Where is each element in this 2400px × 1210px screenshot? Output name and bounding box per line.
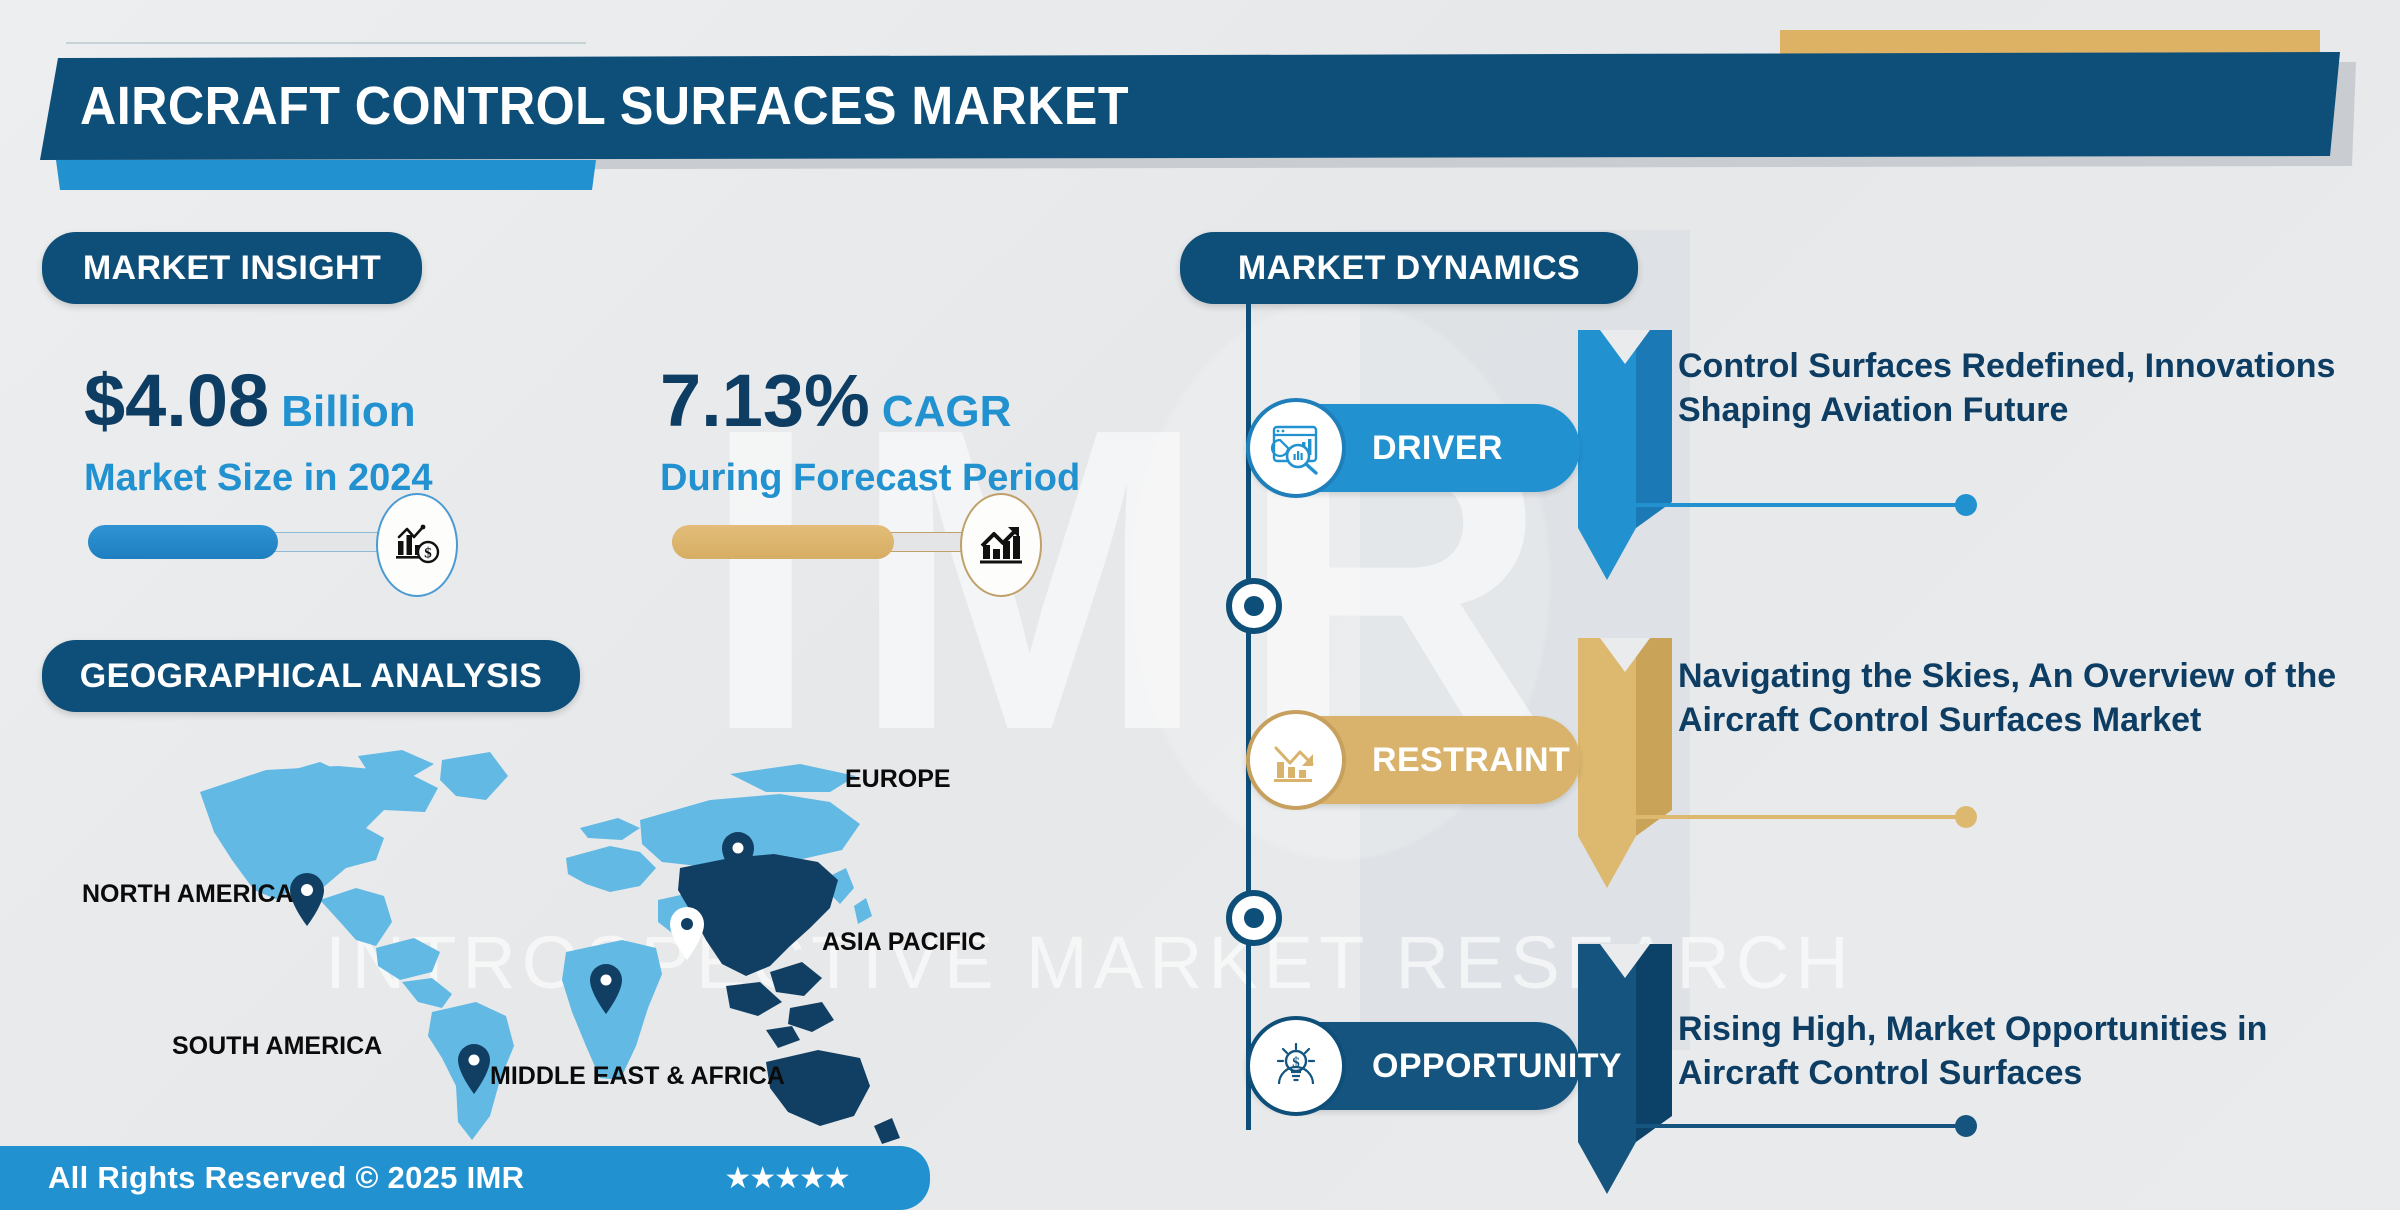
restraint-connector-line xyxy=(1630,815,1970,819)
map-label-europe: EUROPE xyxy=(845,765,951,794)
progress-cagr xyxy=(672,525,972,559)
bar-chart-dollar-icon: $ xyxy=(376,493,458,597)
timeline-spine xyxy=(1246,300,1251,1130)
driver-ribbon xyxy=(1578,330,1672,580)
stat-market-size-caption: Market Size in 2024 xyxy=(84,457,433,500)
stat-market-size-unit: Billion xyxy=(281,387,415,437)
progress-market-size: $ xyxy=(88,525,388,559)
progress-fill xyxy=(88,525,278,559)
driver-label: DRIVER xyxy=(1372,429,1503,468)
svg-text:$: $ xyxy=(1292,1055,1300,1071)
stat-market-size-value: $4.08 xyxy=(84,358,269,443)
footer-bar: All Rights Reserved © 2025 IMR ★★★★★ xyxy=(0,1146,930,1210)
progress-fill xyxy=(672,525,894,559)
footer-rating-stars: ★★★★★ xyxy=(724,1161,848,1196)
lightbulb-dollar-icon: $ xyxy=(1246,1016,1346,1116)
section-label-market-insight: MARKET INSIGHT xyxy=(42,232,422,304)
driver-bar: DRIVER xyxy=(1246,404,1580,492)
map-label-middle-east-africa: MIDDLE EAST & AFRICA xyxy=(490,1062,785,1091)
map-pin-north-america xyxy=(290,873,324,926)
map-label-south-america: SOUTH AMERICA xyxy=(172,1032,382,1061)
opportunity-connector-dot xyxy=(1955,1115,1977,1137)
timeline-node xyxy=(1226,578,1282,634)
footer-copyright: All Rights Reserved © 2025 IMR xyxy=(48,1160,524,1196)
infographic-canvas: IMR INTROSPECTIVE MARKET RESEARCH AIRCRA… xyxy=(0,0,2400,1210)
stat-cagr-unit: CAGR xyxy=(882,387,1012,437)
stat-cagr-value: 7.13% xyxy=(660,358,870,443)
map-pin-asia-pacific xyxy=(670,907,704,960)
restraint-description: Navigating the Skies, An Overview of the… xyxy=(1678,655,2378,742)
section-label-geographical-analysis: GEOGRAPHICAL ANALYSIS xyxy=(42,640,580,712)
header-thin-rule xyxy=(66,42,586,44)
stat-market-size: $4.08Billion Market Size in 2024 xyxy=(84,358,433,500)
opportunity-description: Rising High, Market Opportunities in Air… xyxy=(1678,1008,2378,1095)
page-title: AIRCRAFT CONTROL SURFACES MARKET xyxy=(80,75,1129,137)
driver-connector-dot xyxy=(1955,494,1977,516)
opportunity-connector-line xyxy=(1630,1124,1970,1128)
svg-text:$: $ xyxy=(424,546,432,562)
opportunity-bar: $ OPPORTUNITY xyxy=(1246,1022,1580,1110)
opportunity-label: OPPORTUNITY xyxy=(1372,1047,1622,1086)
map-label-north-america: NORTH AMERICA xyxy=(82,880,294,909)
declining-bar-chart-icon xyxy=(1246,710,1346,810)
driver-description: Control Surfaces Redefined, Innovations … xyxy=(1678,345,2378,432)
driver-connector-line xyxy=(1630,503,1970,507)
restraint-bar: RESTRAINT xyxy=(1246,716,1580,804)
header-banner: AIRCRAFT CONTROL SURFACES MARKET xyxy=(40,52,2340,160)
section-label-market-dynamics: MARKET DYNAMICS xyxy=(1180,232,1638,304)
map-label-asia-pacific: ASIA PACIFIC xyxy=(822,928,986,957)
growth-arrow-chart-icon xyxy=(960,493,1042,597)
restraint-label: RESTRAINT xyxy=(1372,741,1570,780)
dashboard-analysis-icon xyxy=(1246,398,1346,498)
restraint-connector-dot xyxy=(1955,806,1977,828)
restraint-ribbon xyxy=(1578,638,1672,888)
stat-cagr: 7.13%CAGR During Forecast Period xyxy=(660,358,1080,500)
header-underline-accent xyxy=(56,160,596,190)
timeline-node xyxy=(1226,890,1282,946)
stat-cagr-caption: During Forecast Period xyxy=(660,457,1080,500)
